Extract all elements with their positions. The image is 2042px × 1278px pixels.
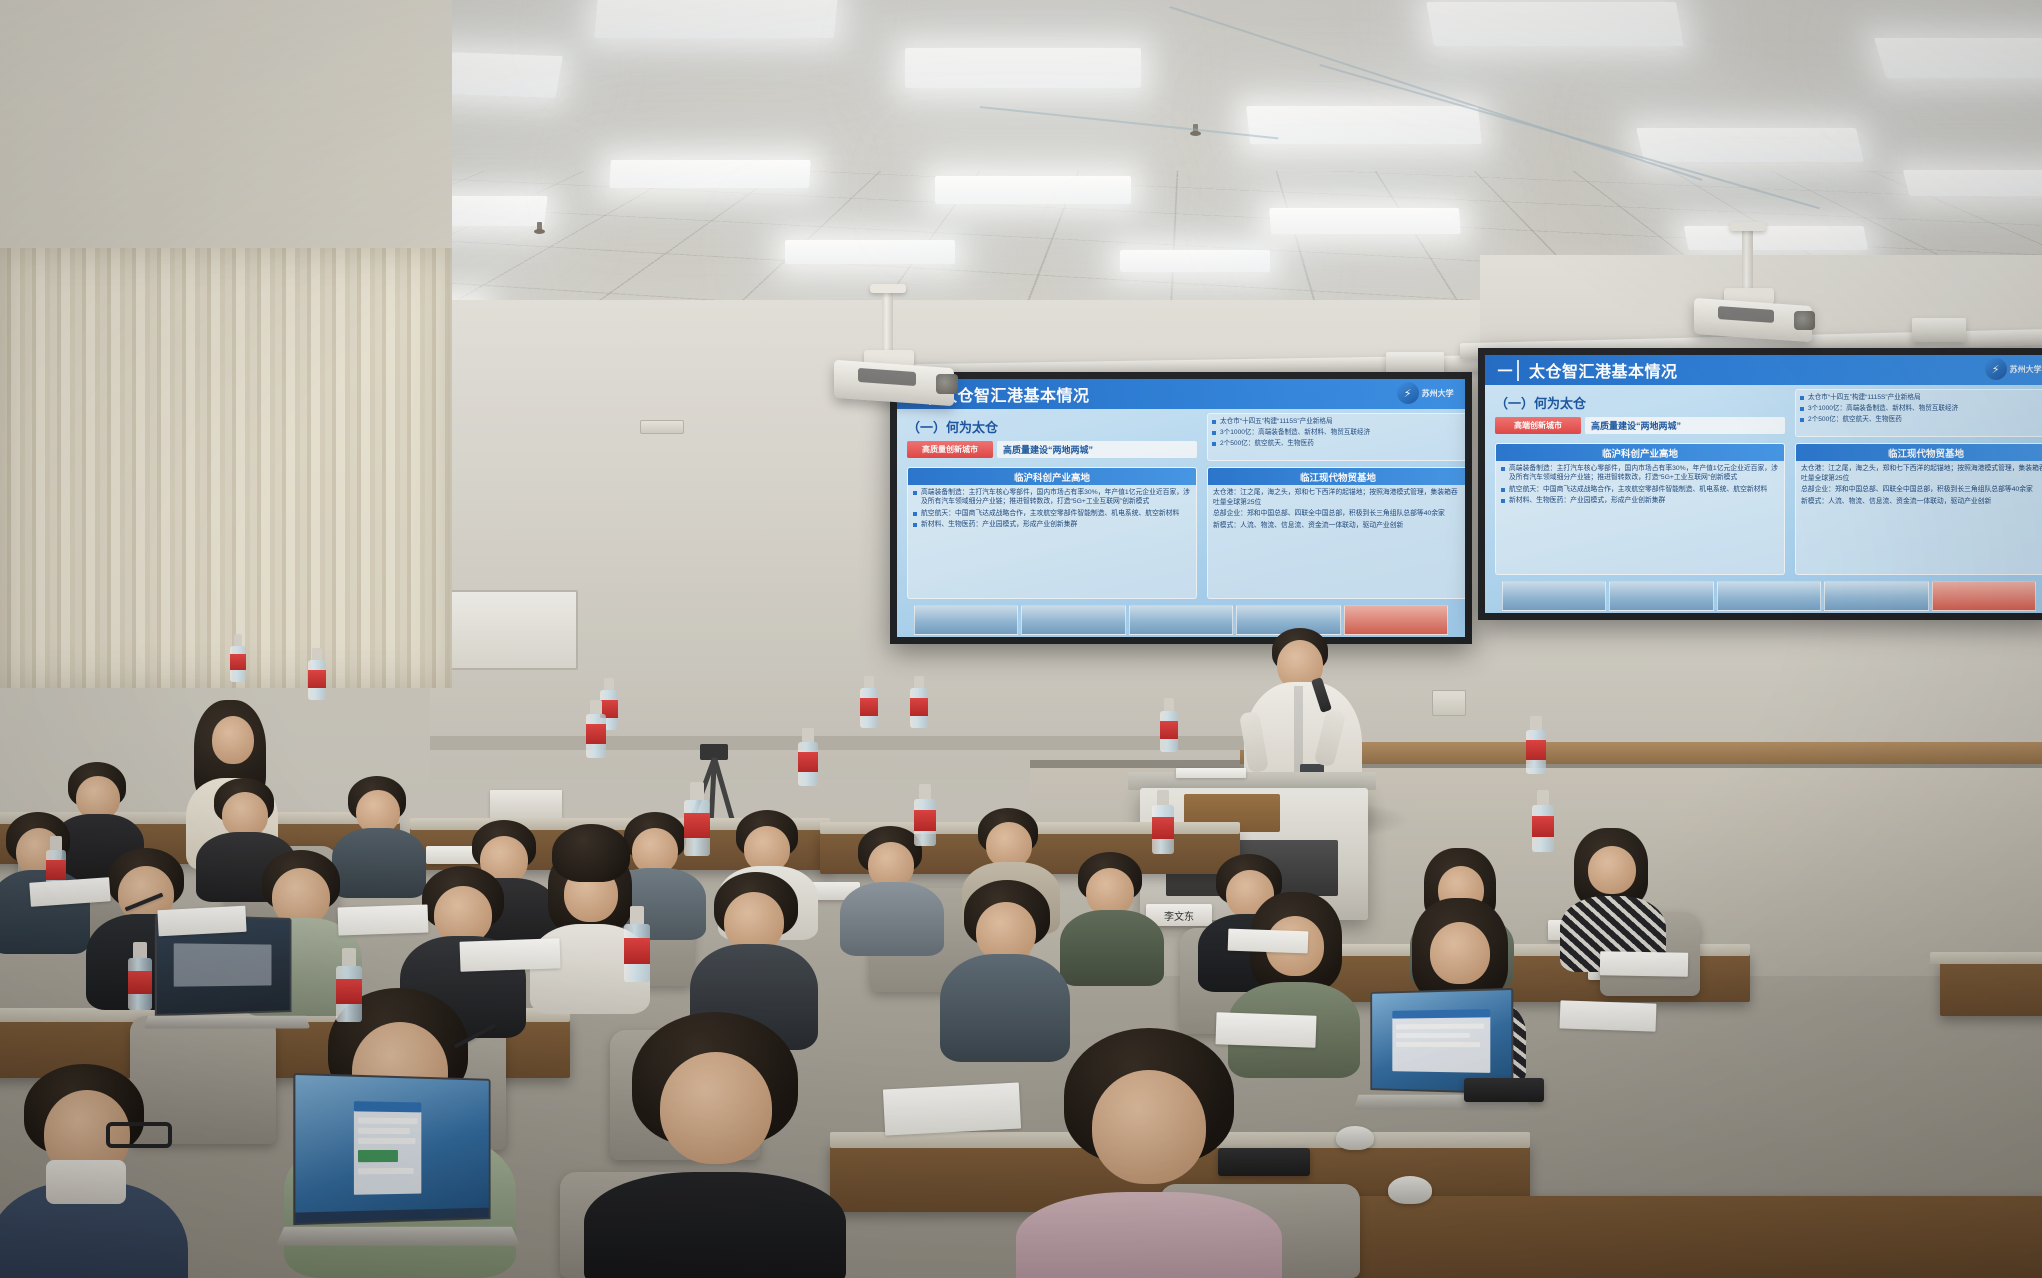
list-item: 新材料、生物医药：产业园模式，形成产业创新集群 (1501, 496, 1779, 505)
list-item: 新模式：人流、物流、信息流、资金流一体联动，驱动产业创新 (1801, 497, 2042, 507)
laptop-keyboard-base[interactable] (276, 1227, 521, 1246)
torso (584, 1172, 846, 1278)
head (724, 892, 784, 952)
panel-head-left: 临沪科创产业高地 (1496, 444, 1784, 461)
thumbnail-image (1129, 605, 1233, 635)
water-bottle[interactable] (1532, 790, 1554, 852)
slide-left-topright-box: 太仓市“十四五”构建“1115S”产业新格局 3个1000亿：高端装备制造、新材… (1207, 413, 1465, 461)
laptop-open-midleft[interactable] (156, 916, 308, 1046)
panel-right-lines: 太仓港：江之尾，海之头，郑和七下西洋的起锚地；按照海港模式管理，集装箱吞吐量全球… (1208, 485, 1465, 536)
thumbnail-image (1717, 581, 1821, 611)
ceiling-light-panel (1120, 250, 1270, 272)
list-item: 3个1000亿：高端装备制造、新材料、物贸互联经济 (1212, 428, 1464, 437)
conference-room-scene: 一 太仓智汇港基本情况 ⚡ 苏州大学 （一）何为太仓 高质量创新城市 高质量建设… (0, 0, 2042, 1278)
water-bottle[interactable] (1526, 716, 1546, 774)
water-bottle[interactable] (1160, 698, 1178, 752)
slide-right-subtitle: （一）何为太仓 (1495, 393, 1586, 412)
water-bottle[interactable] (1152, 790, 1174, 854)
slide-left-tag-red: 高质量创新城市 (907, 441, 993, 458)
projector-ceiling-plate (1730, 222, 1766, 231)
water-bottle[interactable] (684, 782, 710, 856)
computer-mouse[interactable] (1388, 1176, 1432, 1204)
face-mask-icon (46, 1160, 126, 1204)
thumbnail-image (1932, 581, 2036, 611)
ceiling-light-panel (1269, 208, 1461, 234)
paper-sheet (1600, 951, 1688, 977)
window-panel (354, 1101, 421, 1195)
ceiling-light-panel (1246, 106, 1482, 144)
torso (1016, 1192, 1282, 1278)
tablet-device[interactable] (1464, 1078, 1544, 1102)
ceiling-light-panel (594, 0, 838, 38)
window-row (358, 1168, 414, 1175)
water-bottle[interactable] (910, 676, 928, 728)
window-titlebar (354, 1101, 421, 1112)
window-titlebar (1392, 1009, 1490, 1018)
university-emblem-icon: ⚡ (1397, 382, 1419, 404)
desk-row-far-right (1940, 960, 2042, 1016)
podium-paper (1176, 768, 1246, 778)
desk-top (1930, 952, 2042, 964)
panel-head-right: 临江现代物贸基地 (1208, 468, 1465, 485)
side-wall-panel (0, 0, 452, 248)
panel-left-bullets: 高端装备制造：主打汽车核心零部件，国内市场占有率30%，年产值1亿元企业近百家，… (908, 485, 1196, 535)
ceiling-light-panel (609, 160, 810, 188)
water-bottle[interactable] (586, 700, 606, 758)
ceiling-light-panel (785, 240, 955, 264)
list-item: 2个500亿：航空航天、生物医药 (1800, 415, 2042, 424)
projection-screen-right: 一 太仓智汇港基本情况 ⚡ 苏州大学 （一）何为太仓 高端创新城市 高质量建设“… (1478, 348, 2042, 620)
ceiling-projector-left (820, 290, 990, 430)
slide-right-tag-red: 高端创新城市 (1495, 417, 1581, 434)
list-item: 太仓市“十四五”构建“1115S”产业新格局 (1800, 393, 2042, 402)
slide-right-logo: ⚡ 苏州大学 (1985, 358, 2042, 380)
ceiling-light-panel (905, 48, 1141, 88)
water-bottle[interactable] (230, 634, 246, 682)
slide-left-tag-white: 高质量建设“两地两城” (997, 441, 1197, 458)
slide-right-topright-bullets: 太仓市“十四五”构建“1115S”产业新格局 3个1000亿：高端装备制造、新材… (1796, 390, 2042, 429)
slide-right-title: 太仓智汇港基本情况 (1529, 358, 1678, 382)
slide-left-panel-innovation: 临沪科创产业高地 高端装备制造：主打汽车核心零部件，国内市场占有率30%，年产值… (907, 467, 1197, 599)
laptop-keyboard-base[interactable] (144, 1016, 310, 1029)
paper-sheet (1560, 1000, 1657, 1031)
list-item: 3个1000亿：高端装备制造、新材料、物贸互联经济 (1800, 404, 2042, 413)
water-bottle[interactable] (624, 906, 650, 982)
glasses-icon (106, 1122, 172, 1148)
paper-sheet (1228, 929, 1309, 954)
audience-member-foreground (534, 824, 654, 894)
fire-sprinkler-icon (534, 222, 545, 236)
paper-sheet (338, 904, 429, 935)
laptop-open-foreground[interactable] (296, 1076, 516, 1276)
slide-right-section-number: 一 (1493, 360, 1519, 381)
head (1430, 922, 1490, 984)
list-item: 太仓港：江之尾，海之头，郑和七下西洋的起锚地；按照海港模式管理，集装箱吞吐量全球… (1213, 488, 1463, 507)
slide-left-topright-bullets: 太仓市“十四五”构建“1115S”产业新格局 3个1000亿：高端装备制造、新材… (1208, 414, 1465, 453)
head (212, 716, 254, 764)
head (976, 902, 1036, 962)
projector-ceiling-plate (870, 284, 906, 293)
ceiling-projector-right (1680, 228, 1850, 368)
torso (840, 882, 944, 956)
panel-head-right: 临江现代物贸基地 (1796, 444, 2042, 461)
ceiling-light-panel (1874, 38, 2042, 78)
taskbar[interactable] (295, 1208, 490, 1223)
wall-board (440, 590, 578, 670)
list-item: 太仓港：江之尾，海之头，郑和七下西洋的起锚地；按照海港模式管理，集装箱吞吐量全球… (1801, 464, 2042, 483)
paper-sheet (883, 1082, 1021, 1135)
slide-right-panel-logistics: 临江现代物贸基地 太仓港：江之尾，海之头，郑和七下西洋的起锚地；按照海港模式管理… (1795, 443, 2042, 575)
wall-outlet-panel (640, 420, 684, 434)
head (1092, 1070, 1206, 1184)
list-item: 总部企业：郑和中国总部、四联全中国总部，积极到长三角组队总部等40余家 (1213, 509, 1463, 519)
thumbnail-image (914, 605, 1018, 635)
paper-sheet (157, 906, 246, 937)
computer-mouse[interactable] (1336, 1126, 1374, 1150)
laptop-open-right[interactable] (1366, 990, 1526, 1130)
torso (1060, 910, 1164, 986)
list-item: 新材料、生物医药：产业园模式，形成产业创新集群 (913, 520, 1191, 529)
head (1086, 868, 1134, 916)
window-row (1396, 1042, 1480, 1047)
audience-member (1060, 852, 1164, 984)
panel-left-bullets: 高端装备制造：主打汽车核心零部件，国内市场占有率30%，年产值1亿元企业近百家，… (1496, 461, 1784, 511)
panel-head-left: 临沪科创产业高地 (908, 468, 1196, 485)
window-row (358, 1138, 416, 1144)
slide-right-tag-white: 高质量建设“两地两城” (1585, 417, 1785, 434)
floor-box (490, 790, 562, 820)
ceiling-light-panel (935, 176, 1131, 204)
slide-right-panel-innovation: 临沪科创产业高地 高端装备制造：主打汽车核心零部件，国内市场占有率30%，年产值… (1495, 443, 1785, 575)
water-bottle[interactable] (128, 942, 152, 1010)
hair (552, 824, 630, 882)
list-item: 新模式：人流、物流、信息流、资金流一体联动，驱动产业创新 (1213, 521, 1463, 531)
slide-left-panel-logistics: 临江现代物贸基地 太仓港：江之尾，海之头，郑和七下西洋的起锚地；按照海港模式管理… (1207, 467, 1465, 599)
list-item: 太仓市“十四五”构建“1115S”产业新格局 (1212, 417, 1464, 426)
screen-housing-bracket (1912, 318, 1966, 342)
university-emblem-icon: ⚡ (1985, 358, 2007, 380)
paper-sheet (460, 938, 561, 971)
slide-right-topright-box: 太仓市“十四五”构建“1115S”产业新格局 3个1000亿：高端装备制造、新材… (1795, 389, 2042, 437)
head (660, 1052, 772, 1164)
vertical-blinds (0, 248, 452, 688)
projector-lens-icon (936, 374, 958, 394)
ceiling-light-panel (1903, 170, 2042, 196)
list-item: 航空航天：中国商飞达成战略合作，主攻航空零部件智能制造、机电系统、航空新材料 (1501, 485, 1779, 494)
wall-baseboard (430, 736, 1250, 750)
thumbnail-image (1609, 581, 1713, 611)
desk-row-foreground (1290, 1196, 2042, 1278)
panel-right-lines: 太仓港：江之尾，海之头，郑和七下西洋的起锚地；按照海港模式管理，集装箱吞吐量全球… (1796, 461, 2042, 512)
thumbnail-image (1502, 581, 1606, 611)
wall-speaker-box (1432, 690, 1466, 716)
window-row (358, 1118, 417, 1125)
slide-right: 一 太仓智汇港基本情况 ⚡ 苏州大学 （一）何为太仓 高端创新城市 高质量建设“… (1485, 355, 2042, 613)
list-item: 航空航天：中国商飞达成战略合作，主攻航空零部件智能制造、机电系统、航空新材料 (913, 509, 1191, 518)
projector-pole (882, 290, 893, 352)
window-row (1396, 1024, 1484, 1030)
window-row-green (358, 1150, 398, 1162)
slide-left-logo: ⚡ 苏州大学 (1397, 382, 1454, 404)
water-bottle[interactable] (860, 676, 878, 728)
thumbnail-image (1824, 581, 1928, 611)
slide-right-thumbnail-strip (1502, 581, 2036, 611)
ceiling-light-panel (1636, 128, 1864, 162)
thumbnail-image (1021, 605, 1125, 635)
projector-pole (1742, 228, 1753, 290)
water-bottle[interactable] (336, 948, 362, 1022)
tablet-device[interactable] (1218, 1148, 1310, 1176)
audience-member (1560, 828, 1666, 968)
audience-member-foreground (600, 1012, 830, 1278)
projector-lens-icon (1794, 311, 1815, 330)
list-item: 总部企业：郑和中国总部、四联全中国总部，积极到长三角组队总部等40余家 (1801, 485, 2042, 495)
water-bottle[interactable] (914, 784, 936, 846)
university-name: 苏州大学 (1422, 388, 1454, 399)
list-item: 高端装备制造：主打汽车核心零部件，国内市场占有率30%，年产值1亿元企业近百家，… (1501, 464, 1779, 483)
window-panel (174, 943, 272, 986)
head (1588, 846, 1636, 894)
water-bottle[interactable] (308, 648, 326, 700)
ceiling-light-panel (1426, 2, 1684, 46)
audience-member-foreground (0, 1064, 180, 1278)
list-item: 2个500亿：航空航天、生物医药 (1212, 439, 1464, 448)
laptop-screen (293, 1073, 490, 1225)
window-row (358, 1128, 410, 1134)
paper-sheet (1215, 1012, 1316, 1047)
window-row (1396, 1033, 1470, 1038)
university-name: 苏州大学 (2010, 364, 2042, 375)
water-bottle[interactable] (798, 728, 818, 786)
list-item: 高端装备制造：主打汽车核心零部件，国内市场占有率30%，年产值1亿元企业近百家，… (913, 488, 1191, 507)
